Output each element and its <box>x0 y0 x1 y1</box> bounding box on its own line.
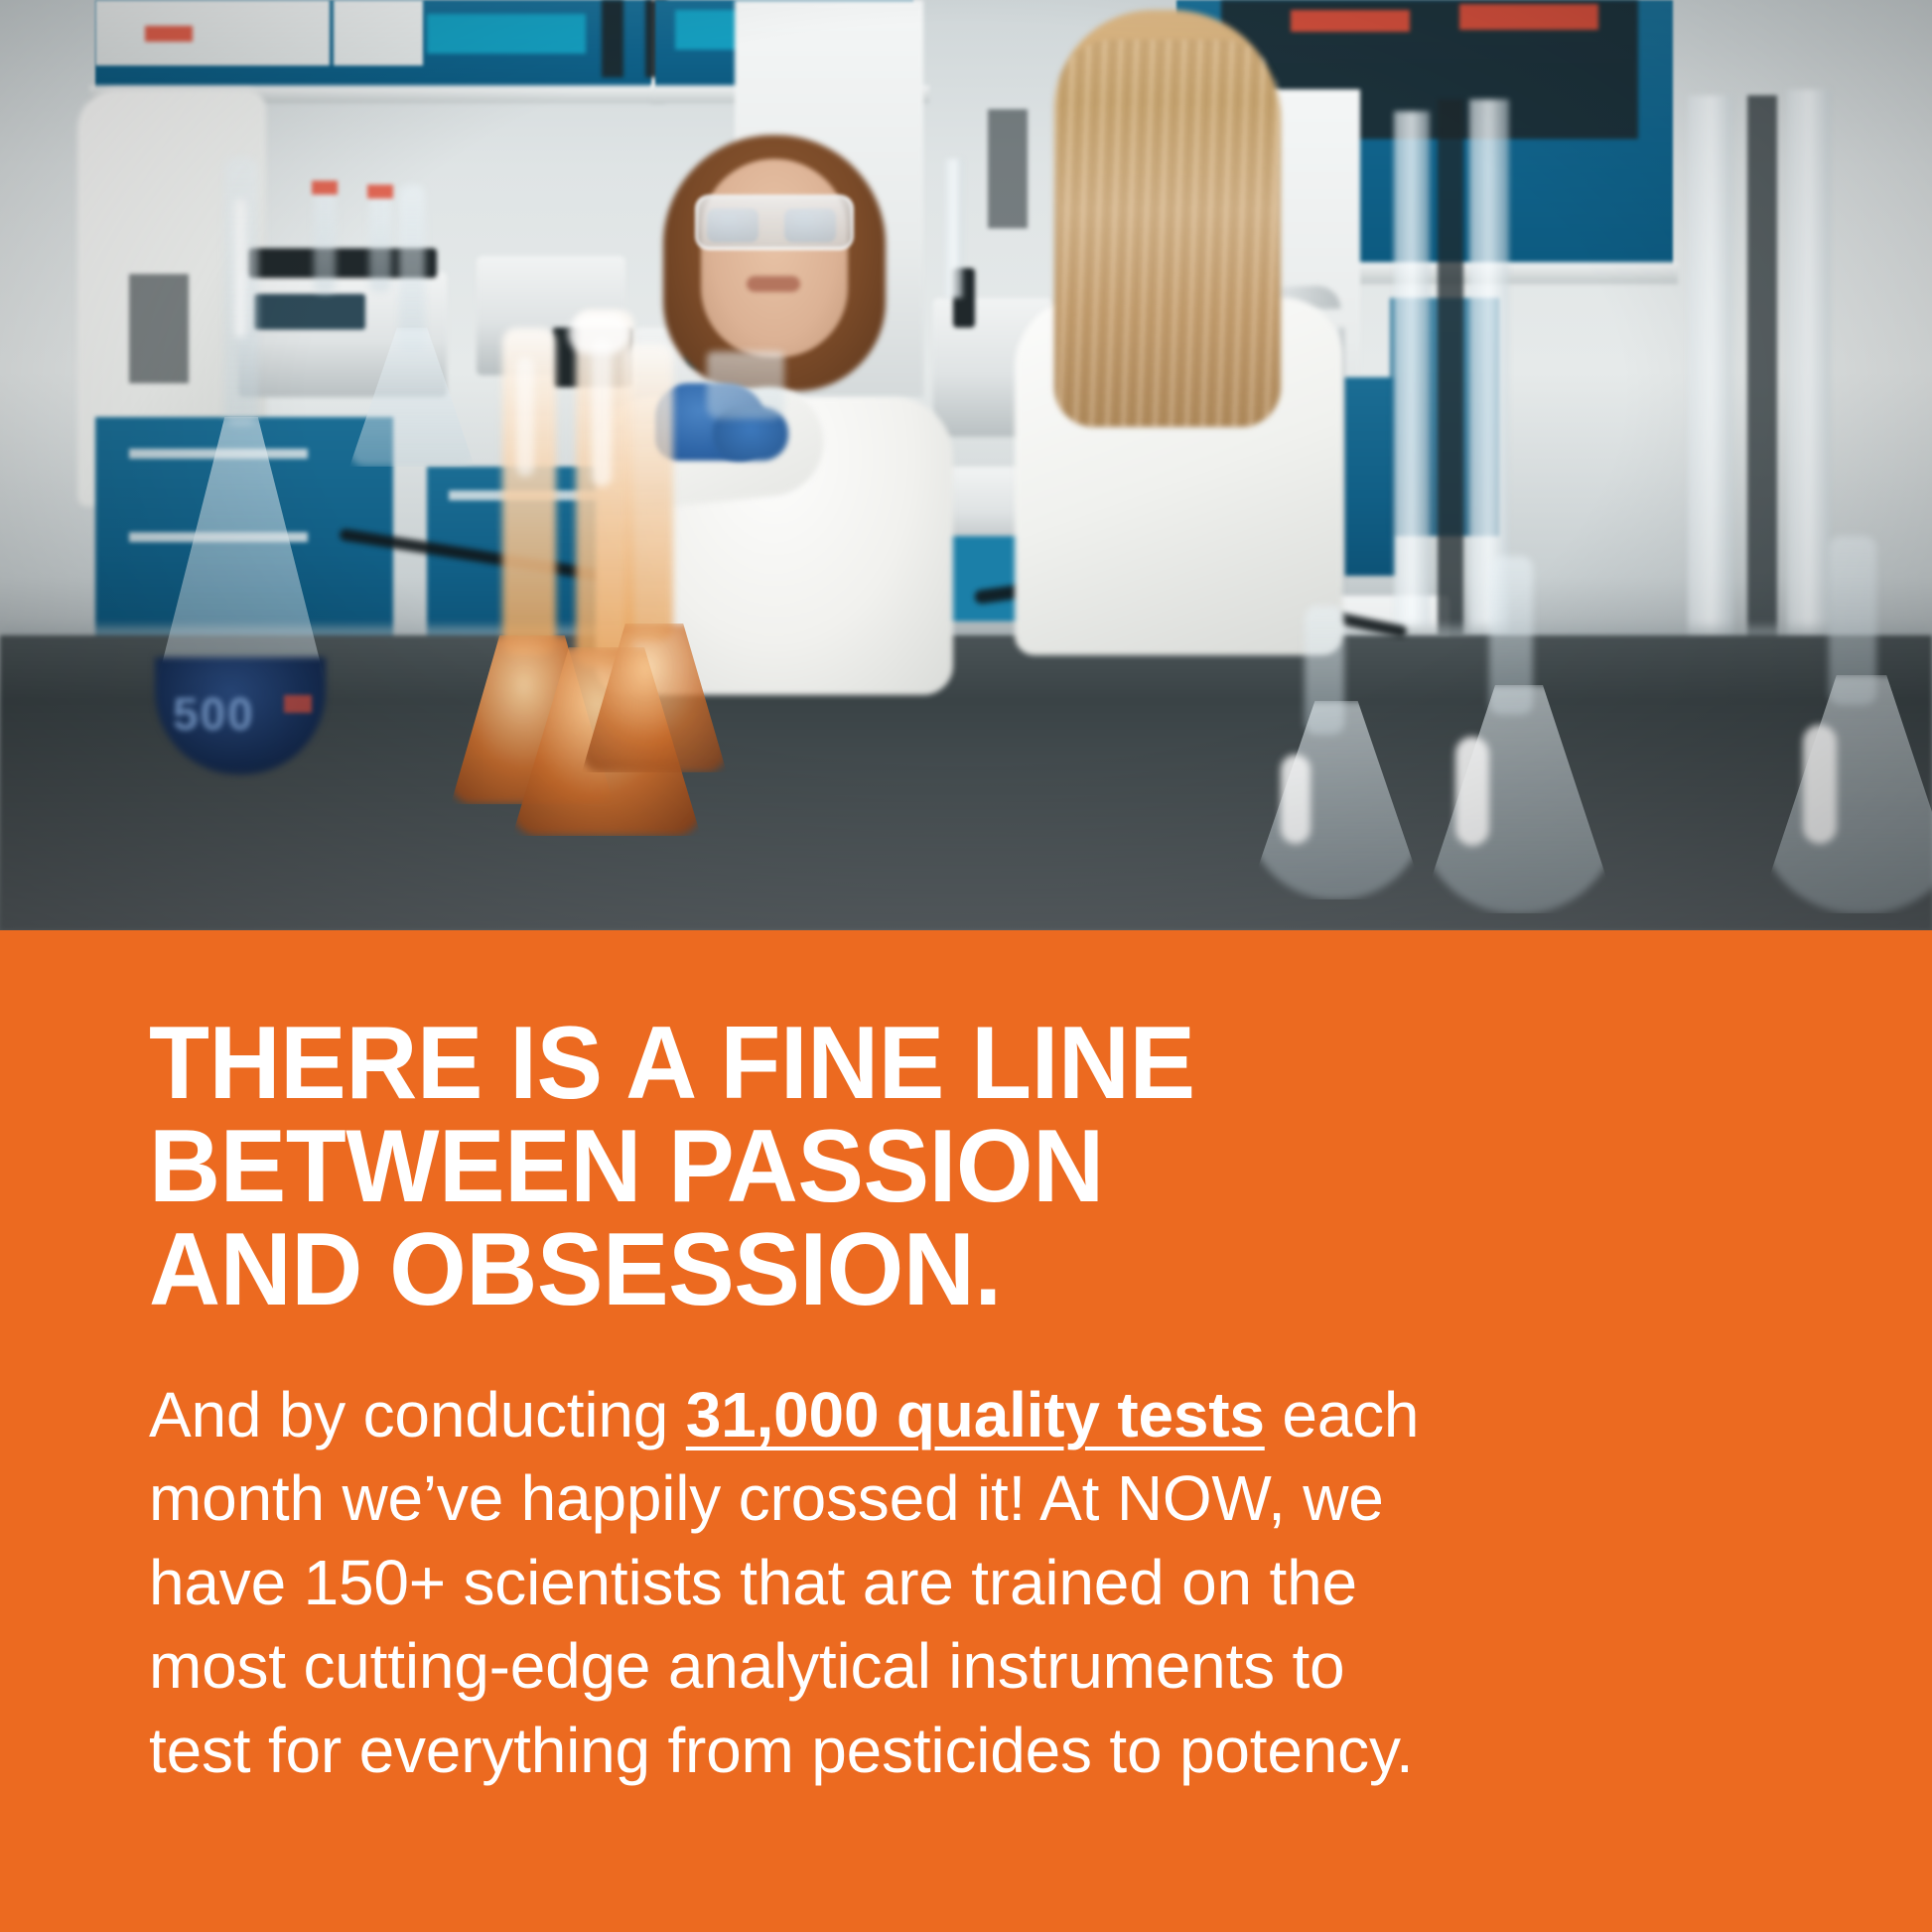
wall-switch-plate <box>988 109 1028 228</box>
headline-line-2: BETWEEN PASSION <box>149 1115 1483 1218</box>
cabinet-cyan-accent-1 <box>427 14 586 54</box>
small-vial-cap-2 <box>367 185 393 199</box>
cabinet-red-accent-3 <box>1459 4 1598 30</box>
overhead-cabinet-white-mid <box>334 0 423 66</box>
glass-column-2 <box>1469 99 1509 635</box>
lab-photo: 500 <box>0 0 1932 930</box>
cabinet-dark-column-1 <box>602 0 623 77</box>
column-dark-gap-2 <box>1747 95 1777 651</box>
instrument-left-display <box>254 294 365 330</box>
overhead-cabinet-white-left <box>95 0 330 66</box>
amber-flask-1-highlight <box>516 357 534 477</box>
round-flask-far-right-glint <box>1455 737 1489 846</box>
small-vial-left-2 <box>369 189 391 292</box>
small-vial-left-1 <box>314 185 336 294</box>
body-lead: And by conducting <box>149 1379 686 1450</box>
cabinet-red-accent-2 <box>1291 10 1410 32</box>
headline-line-1: THERE IS A FINE LINE <box>149 1012 1483 1115</box>
body-emphasis-stat: 31,000 quality tests <box>686 1379 1265 1450</box>
scientist-center-mouth <box>747 276 800 292</box>
amber-flask-3-neck <box>625 344 673 641</box>
support-rod-right <box>945 159 963 298</box>
beaker-in-hand <box>707 351 784 419</box>
scientist-right-hair-strands <box>1054 40 1281 427</box>
safety-goggles <box>695 195 854 250</box>
left-instrument-shadow <box>129 274 189 383</box>
glass-column-4 <box>1787 89 1831 645</box>
round-flask-right-glint <box>1281 755 1311 844</box>
flask-volume-label: 500 <box>173 687 292 731</box>
cabinet-red-accent-1 <box>145 26 193 42</box>
flask-left-red-sticker <box>284 695 312 713</box>
column-dark-gap <box>1438 99 1463 635</box>
body-paragraph: And by conducting 31,000 quality tests e… <box>149 1373 1459 1792</box>
scientist-center-face <box>701 159 848 357</box>
headline-line-3: AND OBSESSION. <box>149 1218 1483 1321</box>
promo-graphic: 500 THERE IS A FINE LINE BETWEEN PASSION… <box>0 0 1932 1932</box>
amber-flask-2-highlight <box>592 338 612 486</box>
volumetric-flask-left-glint <box>234 199 246 338</box>
glass-column-3 <box>1688 95 1733 651</box>
amber-flask-2-cap-glint <box>568 314 629 353</box>
small-vial-cap-1 <box>312 181 338 195</box>
page-title: THERE IS A FINE LINE BETWEEN PASSION AND… <box>149 1012 1483 1321</box>
round-flask-edge-right-glint <box>1803 725 1837 844</box>
orange-content-panel: THERE IS A FINE LINE BETWEEN PASSION AND… <box>0 930 1932 1932</box>
glass-column-1 <box>1394 111 1430 627</box>
